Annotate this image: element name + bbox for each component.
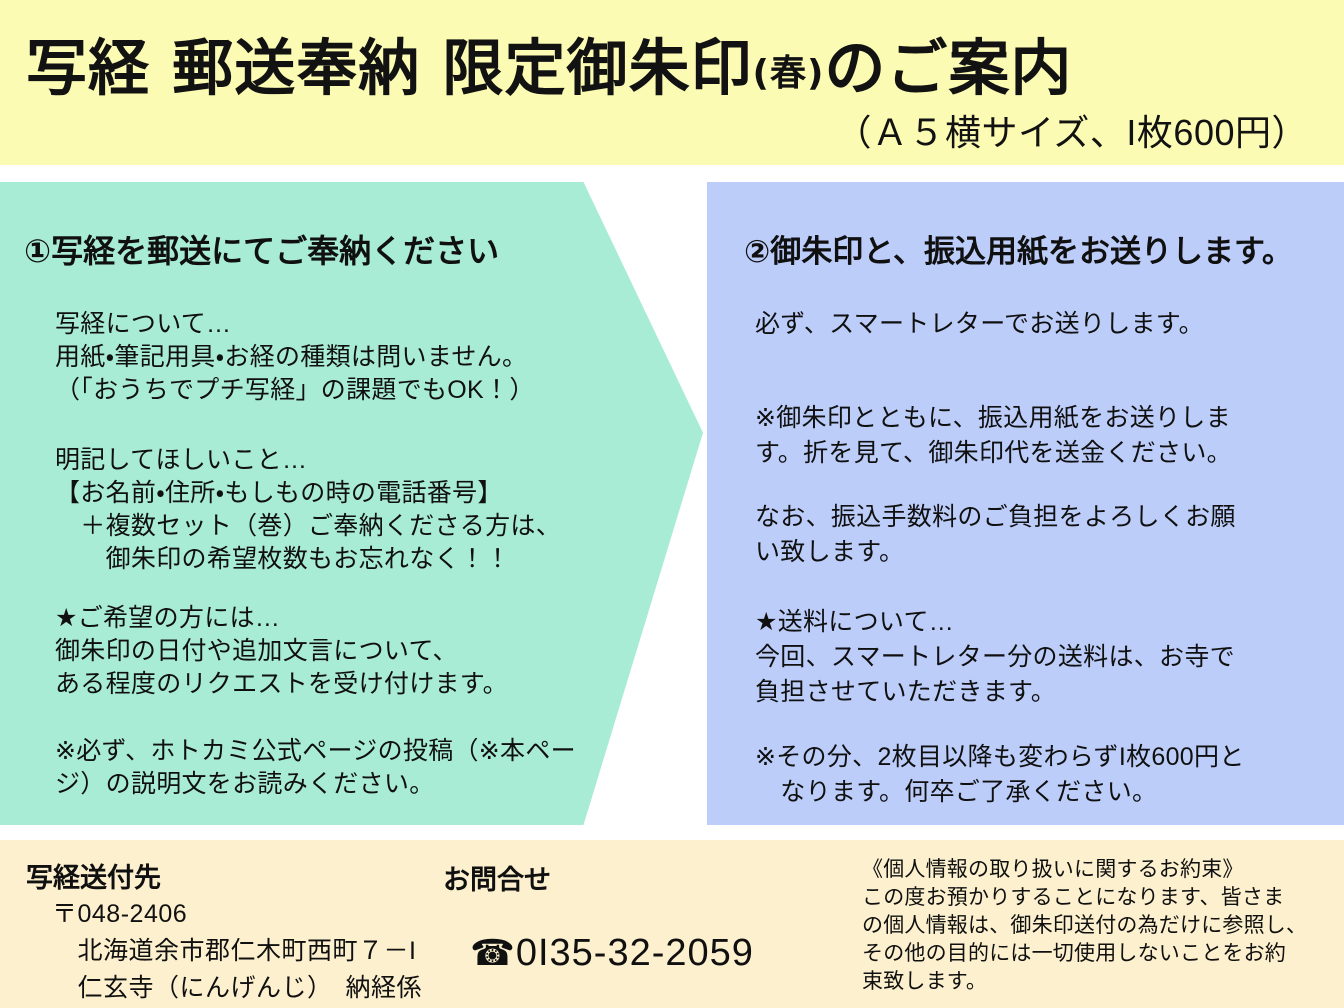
step-one-paragraph-requests: ★ご希望の方には… 御朱印の日付や追加文言について、 ある程度のリクエストを受け… [55,602,508,701]
contact-phone-number: 0I35-32-2059 [516,932,754,974]
step-two-paragraph-shipping: ★送料について… 今回、スマートレター分の送料は、お寺で 負担させていただきます… [755,605,1235,710]
page-title: 写経 郵送奉納 限定御朱印(春)のご案内 [26,18,1072,107]
step-two-paragraph-transfer-form: ※御朱印とともに、振込用紙をお送りしま す。折を見て、御朱印代を送金ください。 [755,401,1232,471]
step-one-paragraph-notice: ※必ず、ホトカミ公式ページの投稿（※本ペー ジ）の説明文をお読みください。 [55,735,576,801]
privacy-policy-text: 《個人情報の取り扱いに関するお約束》 この度お預かりすることになります、皆さま … [862,856,1307,996]
footer-bar: 写経送付先 〒048-2406 北海道余市郡仁木町西町７－I 仁玄寺（にんげんじ… [0,840,1344,1008]
header-banner: 写経 郵送奉納 限定御朱印(春)のご案内 （Ａ５横サイズ、I枚600円） [0,0,1344,165]
step-two-panel: ②御朱印と、振込用紙をお送りします。 必ず、スマートレターでお送りします。 ※御… [707,182,1344,825]
step-two-paragraph-smartletter: 必ず、スマートレターでお送りします。 [755,307,1204,342]
send-to-label: 写経送付先 [26,856,161,895]
step-one-heading: ①写経を郵送にてご奉納ください [24,226,499,272]
telephone-icon: ☎ [470,932,516,973]
page-title-season: (春) [752,53,824,94]
contact-label: お問合せ [443,858,551,897]
step-two-paragraph-transfer-fee: なお、振込手数料のご負担をよろしくお願 い致します。 [755,500,1236,570]
step-one-paragraph-shakyo-about: 写経について… 用紙・筆記用具・お経の種類は問いません。 （「おうちでプチ写経」… [55,308,535,407]
page-subtitle: （Ａ５横サイズ、I枚600円） [836,104,1309,156]
step-two-paragraph-pricing: ※その分、2枚目以降も変わらずI枚600円と なります。何卒ご了承ください。 [755,740,1245,810]
step-two-heading: ②御朱印と、振込用紙をお送りします。 [744,226,1293,271]
page-title-main: 写経 郵送奉納 限定御朱印 [26,33,752,104]
content-area: ①写経を郵送にてご奉納ください 写経について… 用紙・筆記用具・お経の種類は問い… [0,165,1344,840]
step-one-panel: ①写経を郵送にてご奉納ください 写経について… 用紙・筆記用具・お経の種類は問い… [0,182,703,825]
page-title-tail: のご案内 [824,33,1072,104]
step-one-paragraph-required-info: 明記してほしいこと… 【お名前・住所・もしもの時の電話番号】 ＋複数セット（巻）… [55,444,561,576]
send-to-address: 〒048-2406 北海道余市郡仁木町西町７－I 仁玄寺（にんげんじ） 納経係 [52,896,422,1007]
contact-phone[interactable]: ☎0I35-32-2059 [470,932,754,975]
